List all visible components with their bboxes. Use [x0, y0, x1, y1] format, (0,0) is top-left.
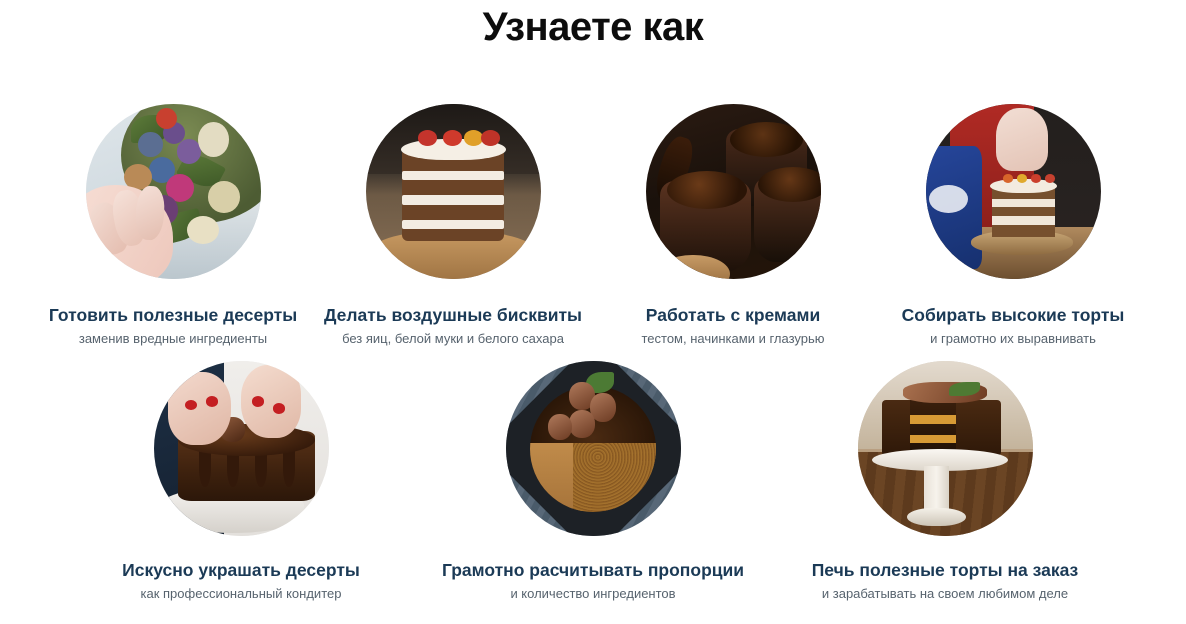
fruit-dessert-illustration [86, 104, 261, 279]
berry-decor-shape [1045, 174, 1056, 183]
cake-body-shape [992, 188, 1055, 237]
berry-decor-shape [1003, 174, 1014, 183]
pear-shape [198, 122, 230, 157]
feature-subtitle: и зарабатывать на своем любимом деле [822, 585, 1068, 603]
pear-shape [208, 181, 240, 213]
feature-title: Готовить полезные десерты [49, 304, 297, 326]
arm-shape [996, 108, 1049, 171]
hand-shape [168, 372, 231, 446]
cake-stand-photo [858, 361, 1033, 536]
cream-layer-shape [402, 195, 504, 205]
berry-decor-shape [1017, 174, 1028, 183]
feature-subtitle: как профессиональный кондитер [141, 585, 342, 603]
chocolate-glaze-shape [667, 171, 748, 210]
cream-layer-shape [992, 216, 1055, 225]
feature-card-custom-cakes[interactable]: Печь полезные торты на заказ и зарабатыв… [769, 361, 1121, 603]
feature-card-healthy-desserts[interactable]: Готовить полезные десерты заменив вредны… [33, 104, 313, 348]
feature-title: Печь полезные торты на заказ [812, 559, 1079, 581]
nail-shape [185, 400, 197, 411]
glazed-cake-illustration [154, 361, 329, 536]
chocolate-glaze-shape [730, 122, 804, 157]
cream-layer-shape [992, 199, 1055, 208]
cream-layer-shape [402, 220, 504, 230]
berry-shape [138, 132, 163, 157]
tall-cake-illustration [926, 104, 1101, 279]
filling-layer-shape [910, 415, 956, 424]
features-row-first: Готовить полезные десерты заменив вредны… [0, 104, 1186, 348]
feature-subtitle: без яиц, белой муки и белого сахара [342, 330, 564, 348]
cream-layer-shape [402, 171, 504, 181]
berry-decor-shape [1031, 174, 1042, 183]
nail-shape [206, 396, 218, 407]
page-title: Узнаете как [0, 0, 1186, 53]
apron-logo-icon [929, 185, 968, 213]
feature-title: Грамотно расчитывать пропорции [442, 559, 744, 581]
glazed-cake-hands-photo [154, 361, 329, 536]
features-row-second: Искусно украшать десерты как профессиона… [0, 361, 1186, 603]
feature-card-proportions[interactable]: Грамотно расчитывать пропорции и количес… [417, 361, 769, 603]
feature-title: Собирать высокие торты [902, 304, 1125, 326]
feature-subtitle: и количество ингредиентов [510, 585, 675, 603]
cake-stand-illustration [858, 361, 1033, 536]
feature-card-decorating[interactable]: Искусно украшать десерты как профессиона… [65, 361, 417, 603]
feature-subtitle: тестом, начинками и глазурью [641, 330, 824, 348]
cake-cut-section-shape [910, 400, 956, 456]
feature-title: Искусно украшать десерты [122, 559, 360, 581]
apple-slice-shape [187, 216, 219, 244]
feature-subtitle: и грамотно их выравнивать [930, 330, 1096, 348]
fig-shape [548, 414, 573, 440]
feature-card-airy-sponges[interactable]: Делать воздушные бисквиты без яиц, белой… [313, 104, 593, 348]
feature-card-creams[interactable]: Работать с кремами тестом, начинками и г… [593, 104, 873, 348]
chocolate-muffins-illustration [646, 104, 821, 279]
feature-title: Работать с кремами [646, 304, 820, 326]
fruit-dessert-photo [86, 104, 261, 279]
sponge-cake-photo [366, 104, 541, 279]
feature-title: Делать воздушные бисквиты [324, 304, 582, 326]
sponge-cake-illustration [366, 104, 541, 279]
cake-top-view-illustration [506, 361, 681, 536]
chocolate-muffins-photo [646, 104, 821, 279]
fig-shape [569, 410, 595, 438]
strawberry-shape [443, 130, 462, 146]
cake-stand-foot-shape [907, 508, 967, 526]
strawberry-shape [156, 108, 177, 129]
tall-cake-decorating-photo [926, 104, 1101, 279]
hand-shape [241, 365, 301, 439]
nail-shape [252, 396, 264, 407]
cake-top-view-photo [506, 361, 681, 536]
filling-layer-shape [910, 435, 956, 444]
nail-shape [273, 403, 285, 414]
apricot-shape [464, 130, 483, 146]
feature-card-tall-cakes[interactable]: Собирать высокие торты и грамотно их выр… [873, 104, 1153, 348]
feature-subtitle: заменив вредные ингредиенты [79, 330, 267, 348]
